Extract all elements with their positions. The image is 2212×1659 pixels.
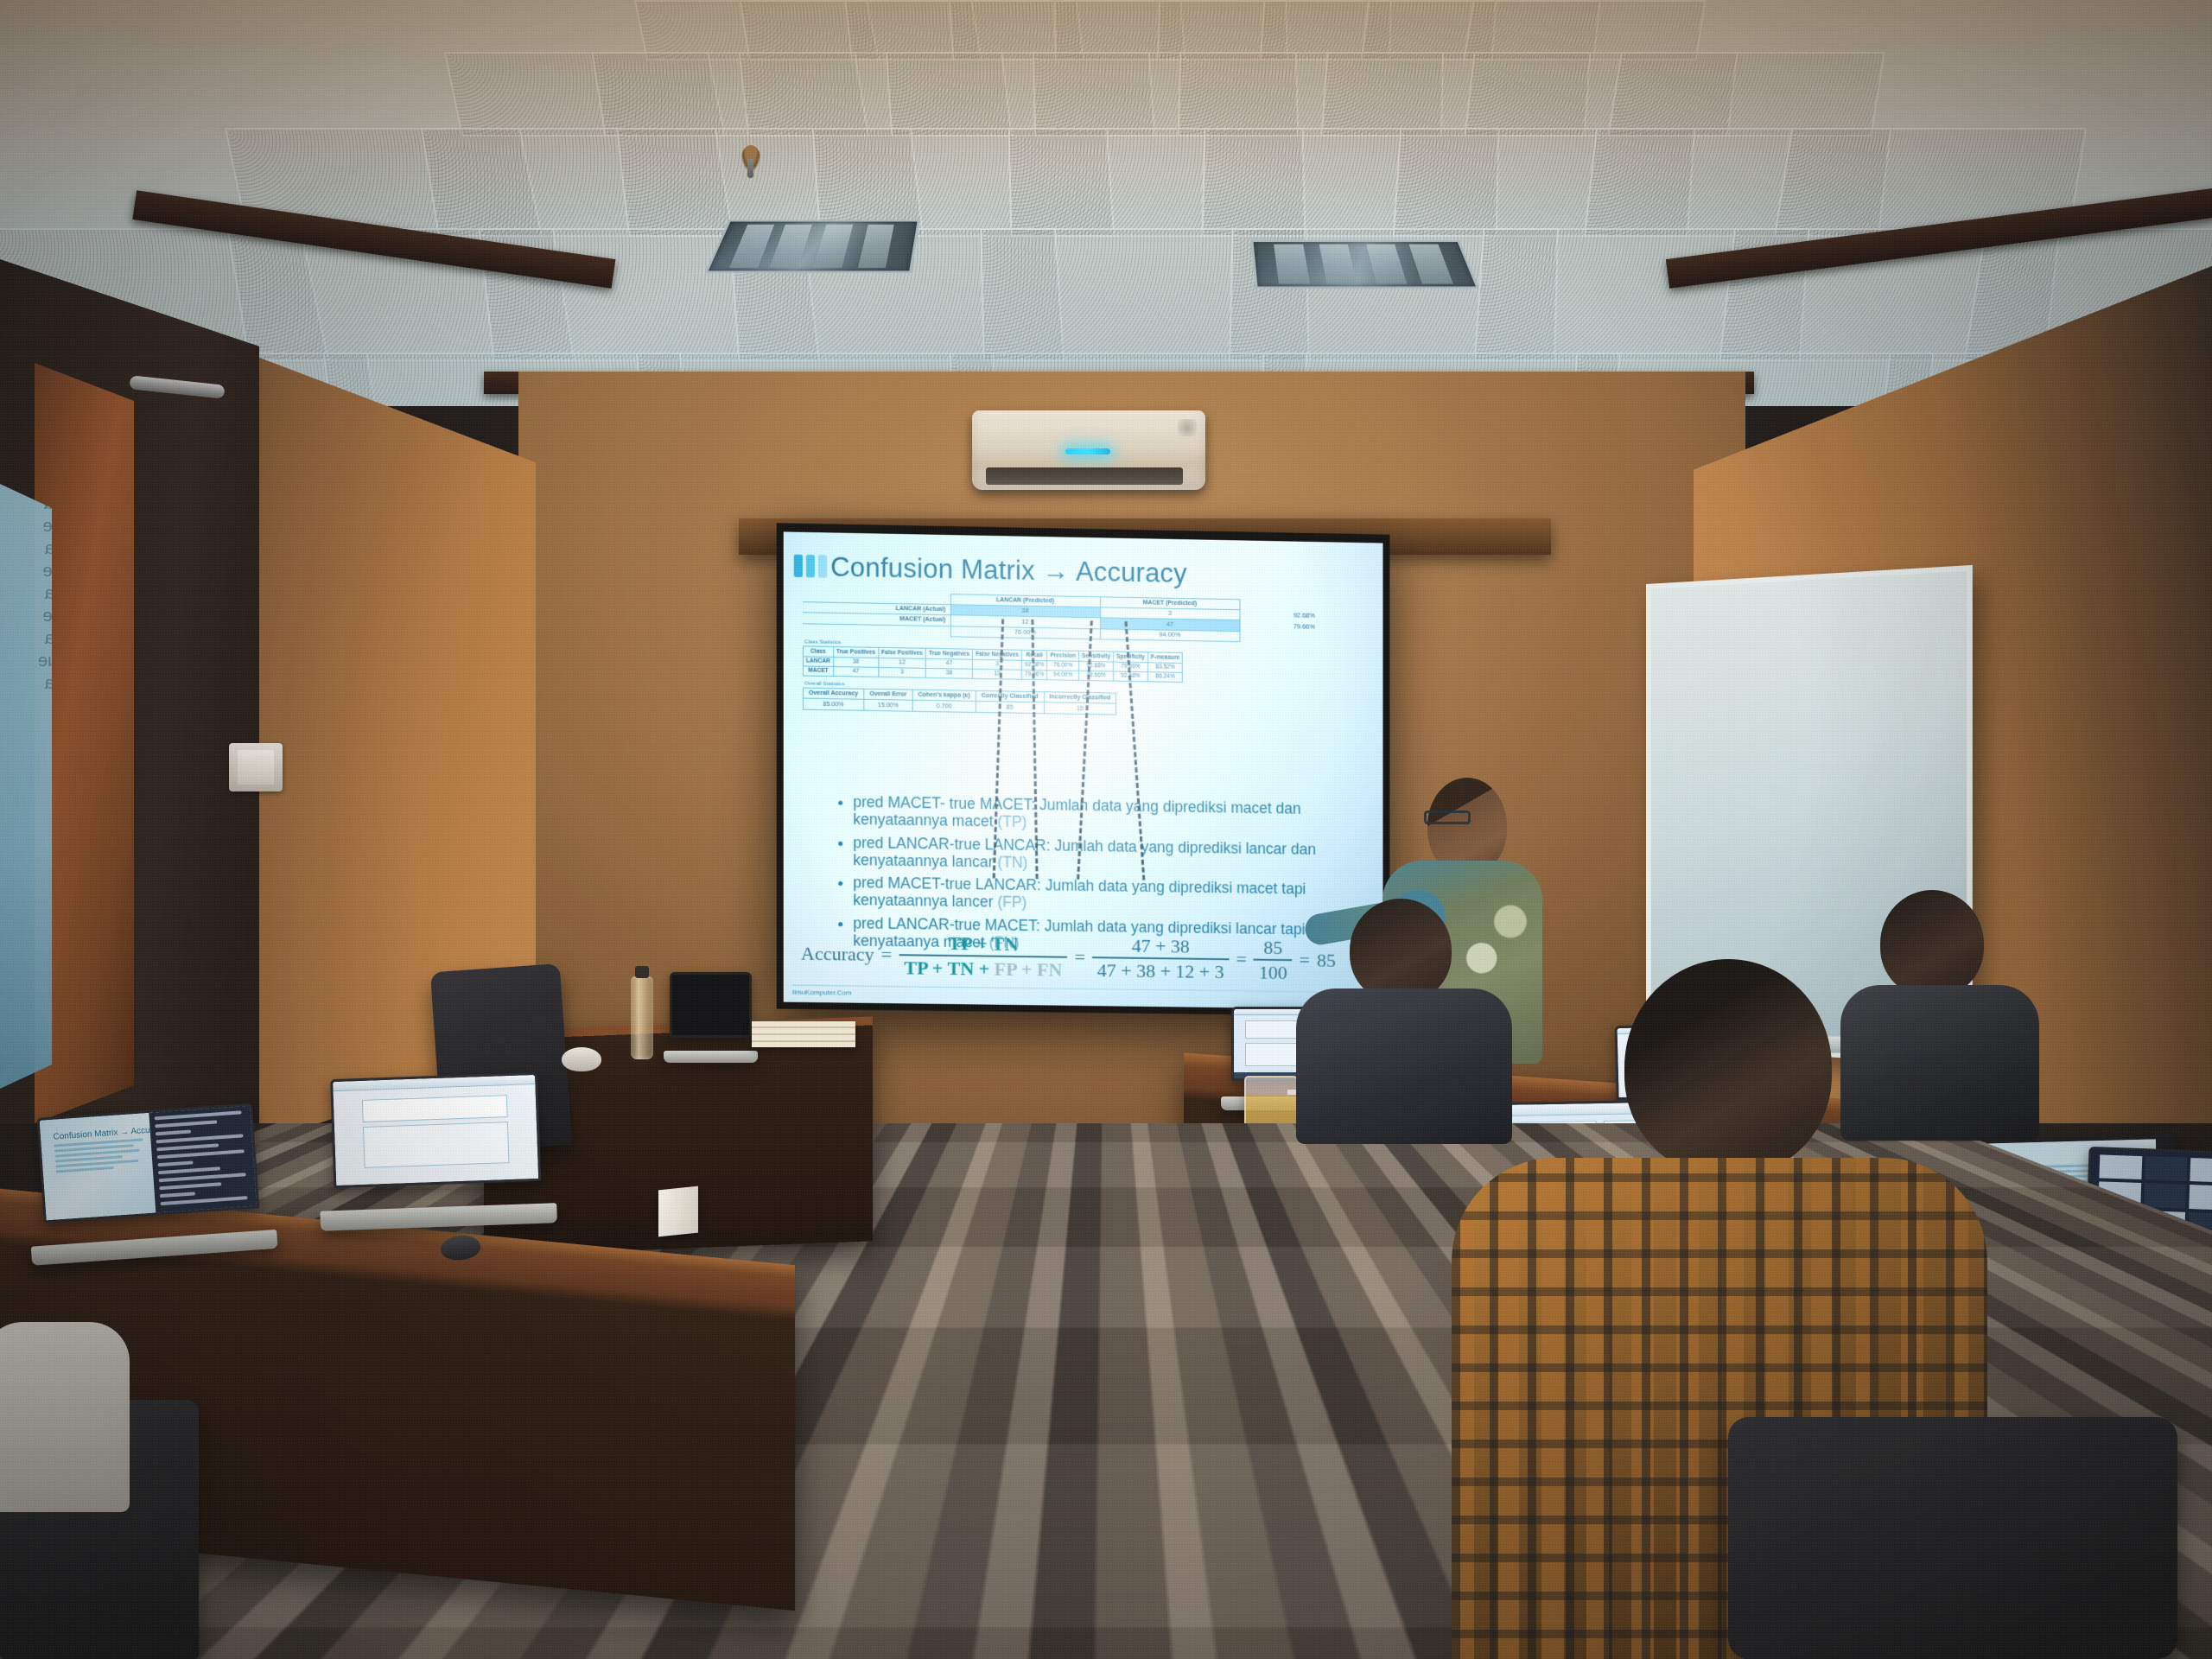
os-v-error: 15.00% <box>864 700 912 711</box>
cs-r1-c7: 79.66% <box>1079 671 1114 681</box>
cs-r0-c1: 38 <box>833 657 878 667</box>
ceiling-tile <box>1607 52 1885 137</box>
cs-r0-c2: 12 <box>878 658 925 668</box>
cs-h-fmeasure: F-measure <box>1147 652 1182 663</box>
water-bottle[interactable] <box>631 976 653 1059</box>
podium-laptop[interactable] <box>670 972 752 1063</box>
cs-r1-c9: 86.24% <box>1147 672 1182 683</box>
chair-foreground-right[interactable] <box>1728 1417 2177 1659</box>
ac-status-led-icon <box>1065 448 1110 454</box>
cs-h-tn: True Negatives <box>925 649 972 659</box>
fire-sprinkler-icon <box>741 145 760 171</box>
snack-item-1 <box>1362 1274 1411 1302</box>
laptop-left-code-pane[interactable] <box>149 1106 257 1213</box>
presenter-glasses-icon <box>1424 810 1471 824</box>
door-reflection-text: M a true nya true nya true nya true nya … <box>0 493 52 717</box>
cs-h-sensitivity: Sensitivity <box>1079 652 1114 662</box>
formula-num-values: 47 + 38 <box>1127 935 1195 957</box>
cs-r1-c2: 3 <box>878 667 925 677</box>
formula-eq-3: = <box>1236 948 1247 970</box>
cs-r1-c6: 94.00% <box>1047 671 1079 681</box>
formula-eq-2: = <box>1074 946 1084 969</box>
list-item: pred MACET- true MACET: Jumlah data yang… <box>853 793 1367 836</box>
os-v-incorrect: 15 <box>1044 702 1116 715</box>
ceiling-tile-grid <box>0 0 2212 406</box>
formula-label: Accuracy <box>801 943 874 966</box>
cs-r1-c3: 38 <box>925 668 972 678</box>
list-item: pred MACET-true LANCAR: Jumlah data yang… <box>853 874 1367 916</box>
cs-h-specificity: Specificity <box>1114 652 1148 663</box>
ac-vent <box>986 467 1183 485</box>
cs-r0-c0: LANCAR <box>803 657 833 667</box>
ceiling <box>0 0 2212 406</box>
door-glass-reflection: M a true nya true nya true nya true nya … <box>0 484 52 1089</box>
ceiling-light-left <box>705 220 920 273</box>
formula-den-values: 47 + 38 + 12 + 3 <box>1092 957 1230 982</box>
os-h-accuracy: Overall Accuracy <box>803 688 863 700</box>
cs-h-precision: Precision <box>1047 651 1079 661</box>
confusion-matrix-table: LANCAR (Predicted) MACET (Predicted) LAN… <box>803 591 1369 645</box>
formula-den-reduced: 100 <box>1254 958 1293 982</box>
os-h-kappa: Cohen's kappa (κ) <box>912 690 976 702</box>
cm-precision-lancar: 76.00% <box>950 626 1100 640</box>
cs-r0-c9: 83.52% <box>1147 662 1182 672</box>
formula-num-reduced: 85 <box>1258 938 1287 959</box>
cs-h-class: Class <box>803 646 833 657</box>
cs-r0-c7: 92.68% <box>1079 661 1114 671</box>
laptop-front-left[interactable]: Confusion Matrix → Accuracy <box>36 1103 262 1264</box>
training-room-scene: M a true nya true nya true nya true nya … <box>0 0 2212 1659</box>
os-h-error: Overall Error <box>864 689 912 700</box>
formula-numeric-fraction: 47 + 38 47 + 38 + 12 + 3 <box>1092 935 1230 982</box>
cs-h-tp: True Positives <box>833 647 878 658</box>
accuracy-formula: Accuracy = TP + TN TP + TN + FP + FN = 4… <box>801 931 1371 983</box>
formula-eq-1: = <box>881 944 892 966</box>
slide-title: Confusion Matrix → Accuracy <box>830 552 1187 590</box>
monitor-port-label: HDMI <box>2155 1338 2175 1347</box>
slide-title-bars-icon <box>794 555 827 578</box>
cs-r0-c6: 76.00% <box>1047 660 1079 671</box>
cm-precision-macet: 94.00% <box>1100 629 1240 642</box>
tea-mug-1[interactable] <box>1244 1076 1298 1133</box>
formula-reduced-fraction: 85 100 <box>1254 937 1293 982</box>
formula-den-symbolic-grey: FP + FN <box>995 958 1063 981</box>
formula-num-symbolic: TP + TN <box>943 933 1023 956</box>
light-switch-plate[interactable] <box>229 743 283 791</box>
slide-footer: IlmuKomputer.Com 252 <box>792 985 1376 1007</box>
snack-item-2 <box>1405 1277 1454 1306</box>
podium-mouse[interactable] <box>562 1047 601 1071</box>
cs-r0-c4: 3 <box>972 659 1021 670</box>
name-tent-card <box>658 1186 698 1237</box>
cs-r1-c1: 47 <box>833 666 878 677</box>
os-v-accuracy: 85.00% <box>803 699 863 711</box>
air-conditioner <box>972 410 1205 490</box>
formula-symbolic-fraction: TP + TN TP + TN + FP + FN <box>899 932 1067 980</box>
cs-h-fp: False Positives <box>878 648 925 658</box>
slide-canvas: Confusion Matrix → Accuracy LANCAR (Pred… <box>784 531 1383 1009</box>
ac-brand-logo-icon <box>1178 419 1197 436</box>
cs-r0-c3: 47 <box>925 658 972 669</box>
list-item: pred LANCAR-true LANCAR: Jumlah data yan… <box>853 834 1367 876</box>
stacked-books <box>752 1021 855 1047</box>
slide-footer-logo: IlmuKomputer.Com <box>792 988 852 997</box>
tea-mug-2[interactable] <box>1352 1199 1414 1274</box>
participant-4 <box>0 1287 138 1512</box>
laptop-left-second[interactable] <box>330 1072 543 1230</box>
cs-r1-c4: 12 <box>972 669 1021 679</box>
os-v-kappa: 0.700 <box>912 701 976 713</box>
ceiling-light-right <box>1251 240 1479 289</box>
laptop-far-right[interactable] <box>2084 1147 2212 1281</box>
cs-r1-c0: MACET <box>803 666 833 677</box>
overall-statistics-table: Overall Accuracy Overall Error Cohen's k… <box>803 688 1116 715</box>
formula-den-symbolic-teal: TP + TN + <box>904 957 994 979</box>
